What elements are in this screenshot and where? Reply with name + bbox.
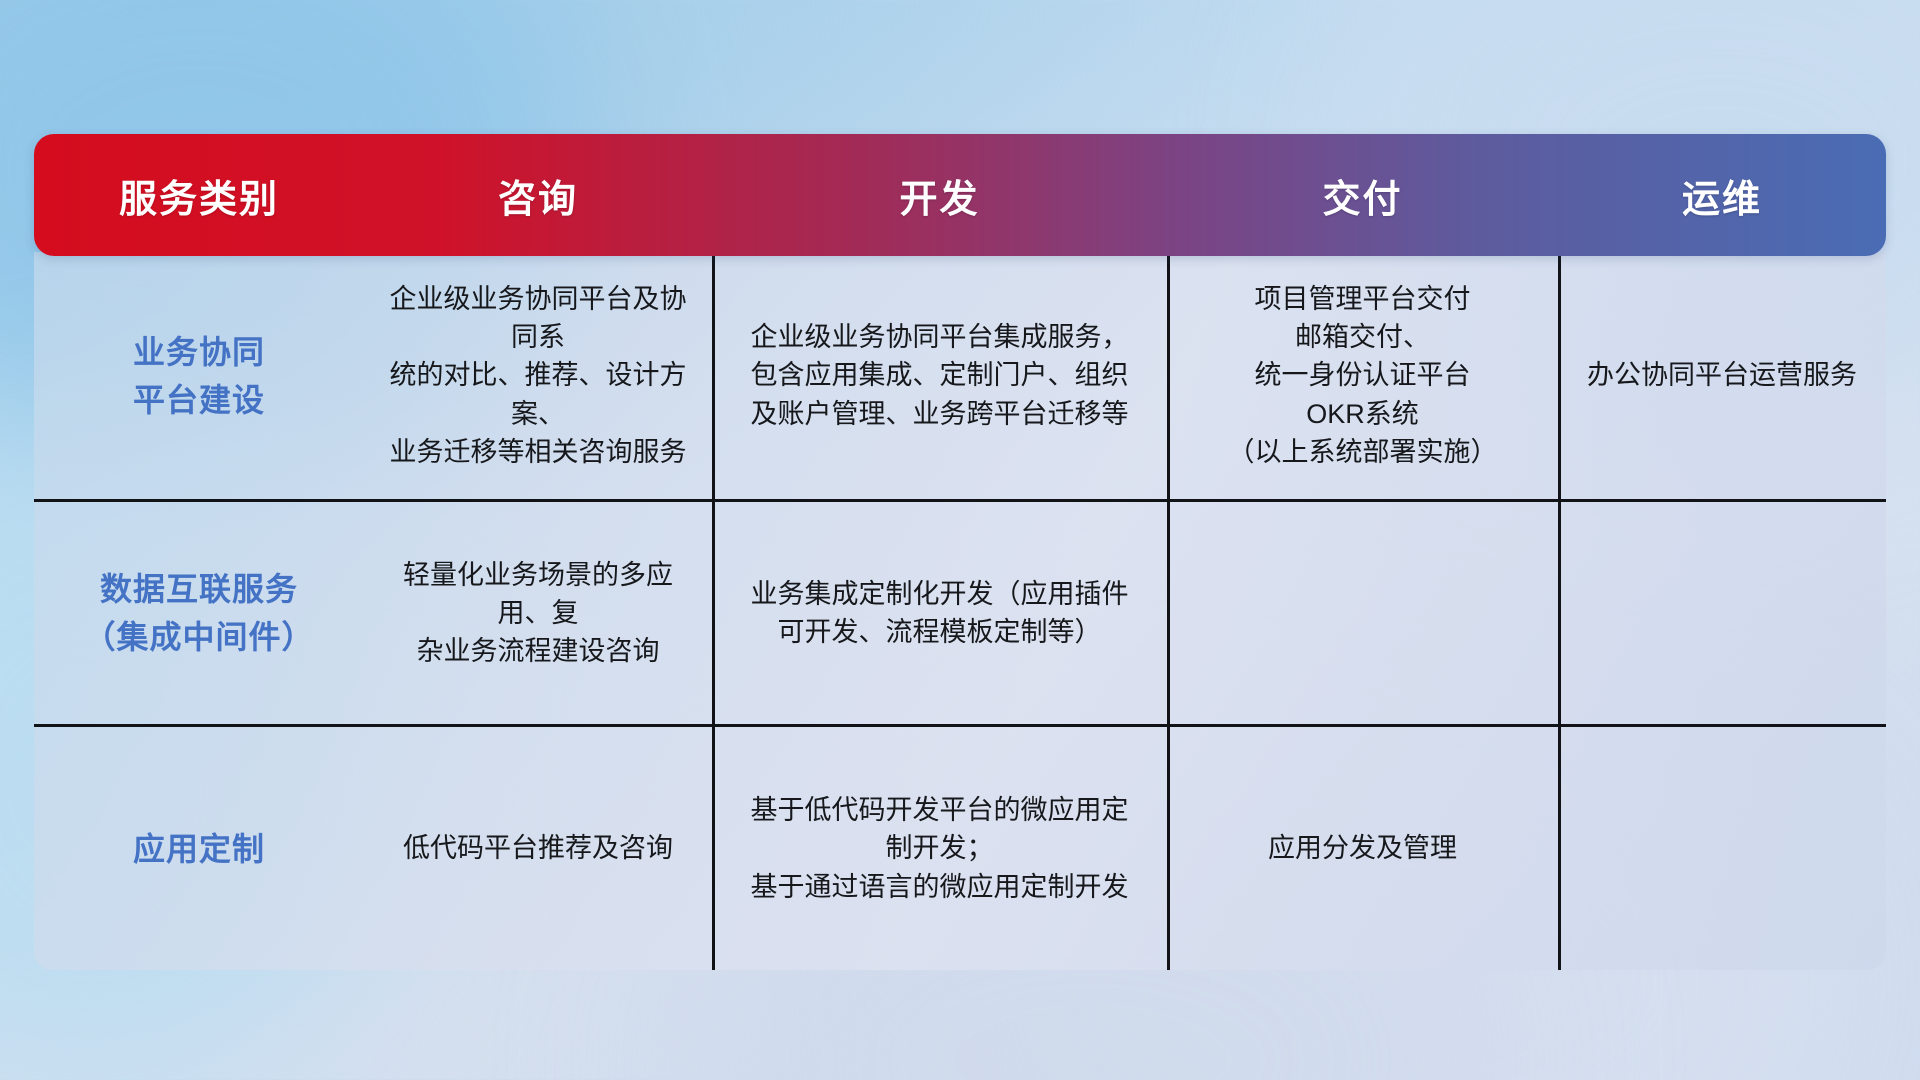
column-header-consulting: 咨询 (364, 168, 712, 223)
column-header-delivery: 交付 (1167, 168, 1558, 223)
table-row: 业务协同 平台建设 企业级业务协同平台及协同系 统的对比、推荐、设计方案、 业务… (34, 252, 1886, 502)
table-body: 业务协同 平台建设 企业级业务协同平台及协同系 统的对比、推荐、设计方案、 业务… (34, 252, 1886, 970)
cell-consulting: 低代码平台推荐及咨询 (364, 727, 712, 970)
cell-delivery (1167, 502, 1558, 724)
cell-development: 业务集成定制化开发（应用插件 可开发、流程模板定制等） (712, 502, 1167, 724)
table-row: 数据互联服务 （集成中间件） 轻量化业务场景的多应用、复 杂业务流程建设咨询 业… (34, 502, 1886, 727)
column-header-service-category: 服务类别 (34, 168, 364, 223)
row-category-label: 业务协同 平台建设 (34, 252, 364, 499)
table-header-row: 服务类别 咨询 开发 交付 运维 (34, 134, 1886, 256)
cell-delivery: 应用分发及管理 (1167, 727, 1558, 970)
cell-operations (1558, 502, 1886, 724)
row-category-label: 数据互联服务 （集成中间件） (34, 502, 364, 724)
cell-development: 企业级业务协同平台集成服务， 包含应用集成、定制门户、组织 及账户管理、业务跨平… (712, 252, 1167, 499)
service-matrix-table: 服务类别 咨询 开发 交付 运维 业务协同 平台建设 企业级业务协同平台及协同系… (34, 134, 1886, 970)
column-header-operations: 运维 (1558, 168, 1886, 223)
cell-operations (1558, 727, 1886, 970)
cell-development: 基于低代码开发平台的微应用定 制开发； 基于通过语言的微应用定制开发 (712, 727, 1167, 970)
cell-consulting: 轻量化业务场景的多应用、复 杂业务流程建设咨询 (364, 502, 712, 724)
column-header-development: 开发 (712, 168, 1167, 223)
table-row: 应用定制 低代码平台推荐及咨询 基于低代码开发平台的微应用定 制开发； 基于通过… (34, 727, 1886, 970)
cell-operations: 办公协同平台运营服务 (1558, 252, 1886, 499)
cell-consulting: 企业级业务协同平台及协同系 统的对比、推荐、设计方案、 业务迁移等相关咨询服务 (364, 252, 712, 499)
row-category-label: 应用定制 (34, 727, 364, 970)
cell-delivery: 项目管理平台交付 邮箱交付、 统一身份认证平台 OKR系统 （以上系统部署实施） (1167, 252, 1558, 499)
